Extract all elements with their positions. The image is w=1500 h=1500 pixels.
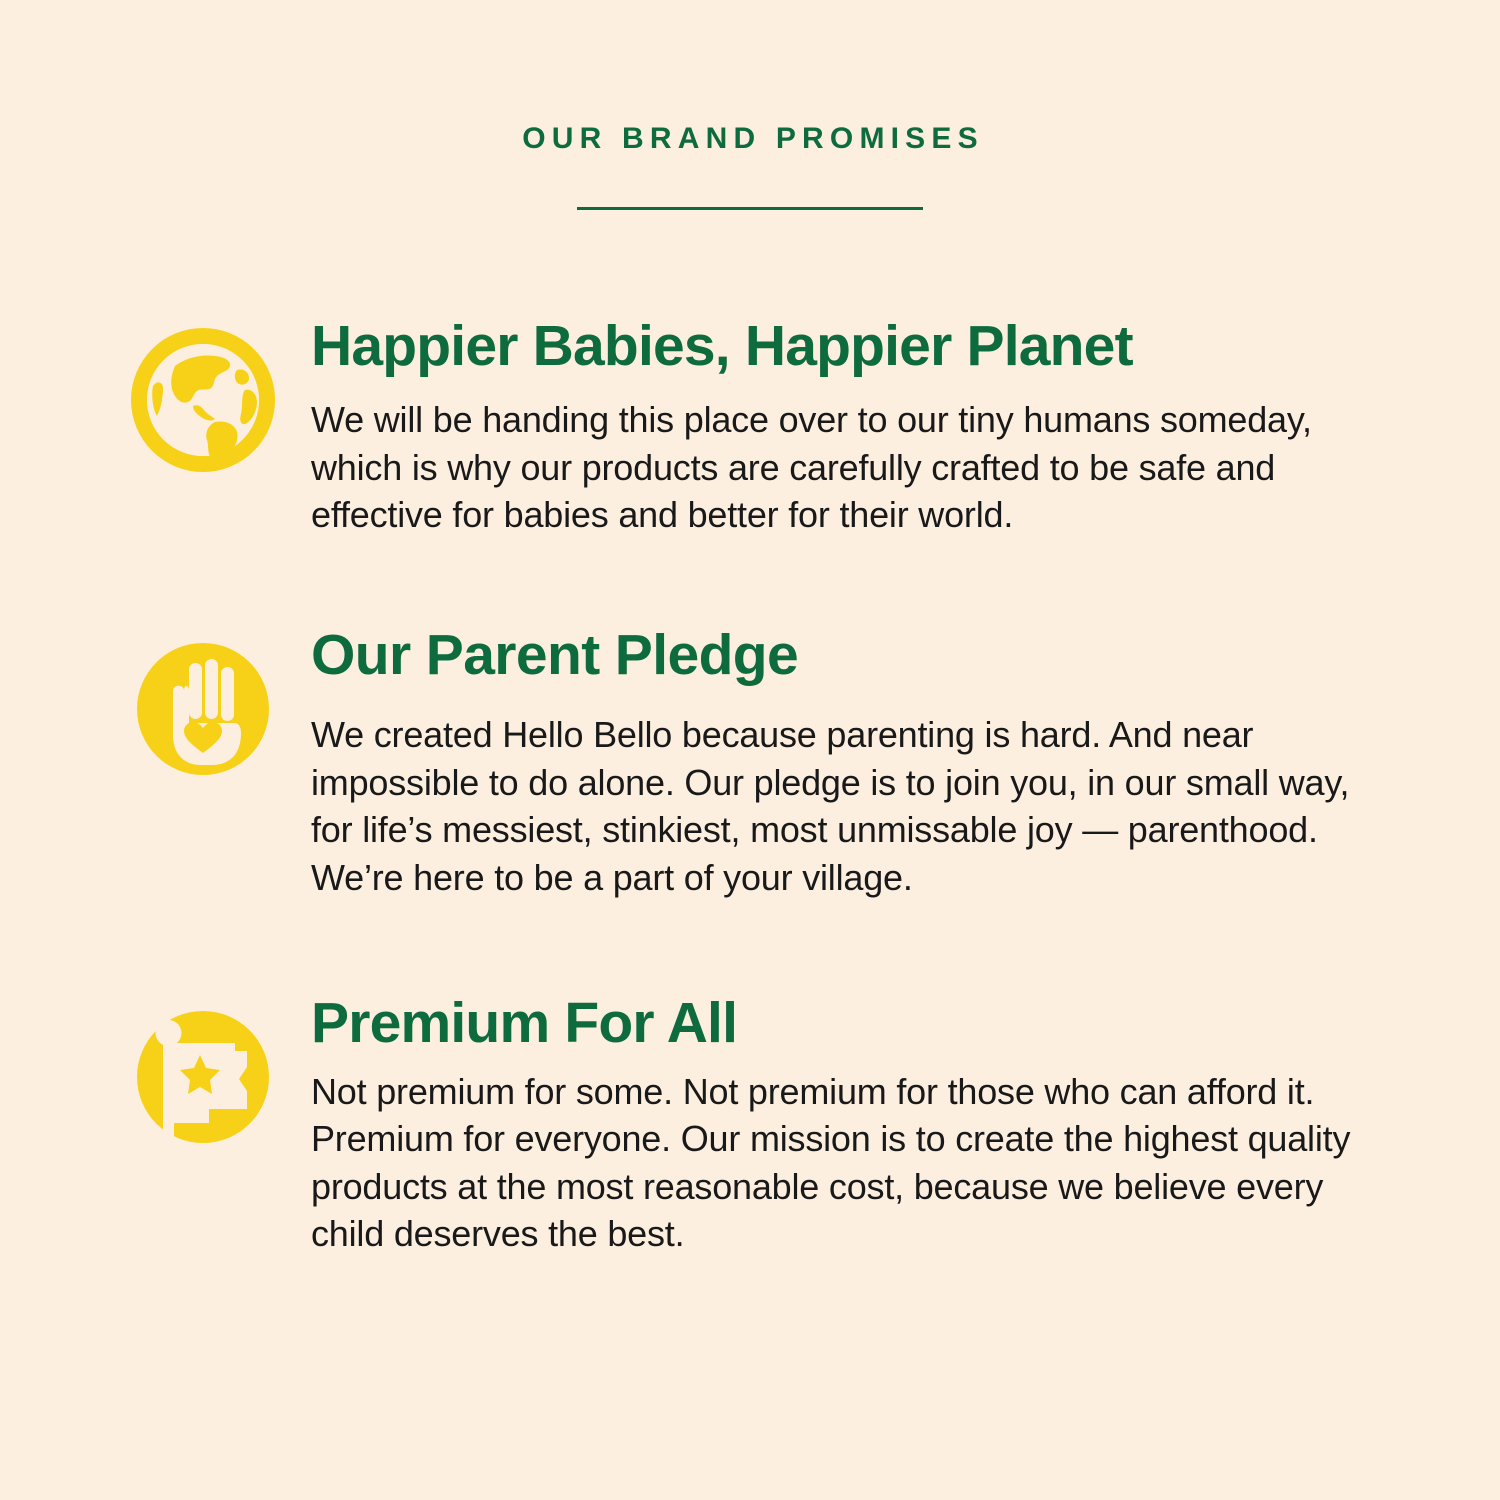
globe-icon: [131, 328, 275, 478]
promise-content: Premium For All Not premium for some. No…: [311, 993, 1500, 1257]
title-divider: [577, 207, 923, 210]
brand-promises-page: OUR BRAND PROMISES: [0, 0, 1500, 1500]
promise-title: Our Parent Pledge: [311, 625, 1380, 685]
page-header: OUR BRAND PROMISES: [0, 122, 1500, 210]
promise-list: Happier Babies, Happier Planet We will b…: [0, 316, 1500, 1258]
promise-title: Premium For All: [311, 993, 1380, 1053]
promise-content: Our Parent Pledge We created Hello Bello…: [311, 625, 1500, 901]
promise-text: Not premium for some. Not premium for th…: [311, 1068, 1366, 1258]
promise-title: Happier Babies, Happier Planet: [311, 316, 1380, 376]
page-title: OUR BRAND PROMISES: [0, 122, 1500, 155]
promise-content: Happier Babies, Happier Planet We will b…: [311, 316, 1500, 539]
promise-text: We created Hello Bello because parenting…: [311, 711, 1380, 901]
promise-text: We will be handing this place over to ou…: [311, 396, 1321, 539]
promise-item: Premium For All Not premium for some. No…: [0, 993, 1500, 1257]
promise-item: Happier Babies, Happier Planet We will b…: [0, 316, 1500, 539]
promise-item: Our Parent Pledge We created Hello Bello…: [0, 625, 1500, 901]
hand-heart-icon: [131, 637, 275, 787]
flag-star-icon: [131, 1005, 275, 1155]
divider-container: [0, 207, 1500, 210]
